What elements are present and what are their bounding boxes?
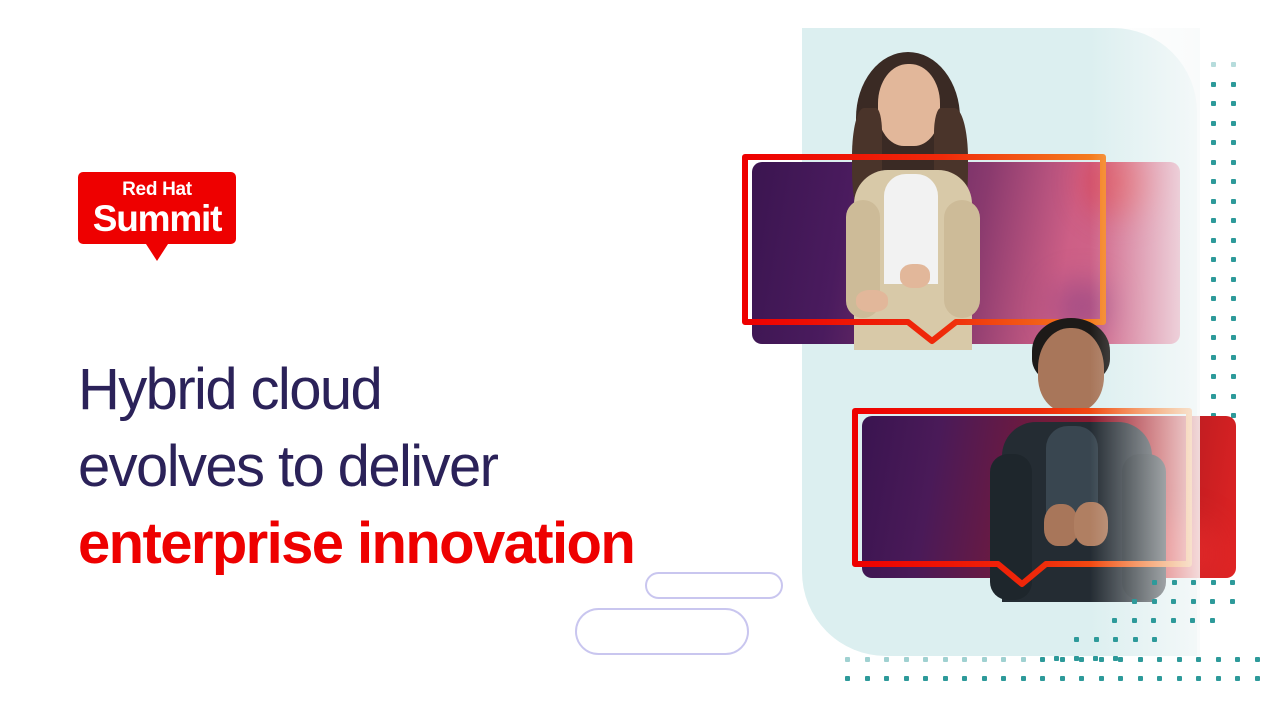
headline-line-2: evolves to deliver bbox=[78, 428, 758, 505]
headline-line-3: enterprise innovation bbox=[78, 505, 758, 582]
decorative-pill-large bbox=[575, 608, 749, 655]
red-hat-summit-logo[interactable]: Red Hat Summit bbox=[78, 172, 236, 244]
grid-dot bbox=[1172, 580, 1177, 585]
logo-bubble-tail bbox=[146, 244, 168, 261]
logo-line-summit: Summit bbox=[93, 200, 221, 237]
grid-dot bbox=[1210, 618, 1215, 623]
grid-dot bbox=[1093, 656, 1098, 661]
grid-dot bbox=[1171, 599, 1176, 604]
grid-dot bbox=[1074, 656, 1079, 661]
grid-dot bbox=[1152, 637, 1157, 642]
grid-dot bbox=[1054, 656, 1059, 661]
grid-dot bbox=[1094, 637, 1099, 642]
grid-dot bbox=[1230, 599, 1235, 604]
grid-dot bbox=[1074, 637, 1079, 642]
grid-dot bbox=[1190, 618, 1195, 623]
grid-dot bbox=[1132, 618, 1137, 623]
grid-dot bbox=[1171, 618, 1176, 623]
headline-line-1: Hybrid cloud bbox=[78, 351, 758, 428]
logo-line-red-hat: Red Hat bbox=[122, 180, 192, 199]
grid-dot bbox=[1210, 599, 1215, 604]
grid-dot bbox=[1151, 618, 1156, 623]
grid-dot bbox=[1191, 599, 1196, 604]
grid-dot bbox=[1113, 637, 1118, 642]
grid-dot bbox=[1230, 580, 1235, 585]
grid-dot bbox=[1112, 618, 1117, 623]
grid-dot bbox=[1132, 599, 1137, 604]
slide-canvas: Red Hat Summit Hybrid cloud evolves to d… bbox=[0, 0, 1279, 720]
grid-dot bbox=[1152, 599, 1157, 604]
grid-dot bbox=[1211, 580, 1216, 585]
grid-dot bbox=[1113, 656, 1118, 661]
grid-dot bbox=[1152, 580, 1157, 585]
grid-dot bbox=[1191, 580, 1196, 585]
grid-dot bbox=[1133, 637, 1138, 642]
page-title: Hybrid cloud evolves to deliver enterpri… bbox=[78, 351, 758, 582]
